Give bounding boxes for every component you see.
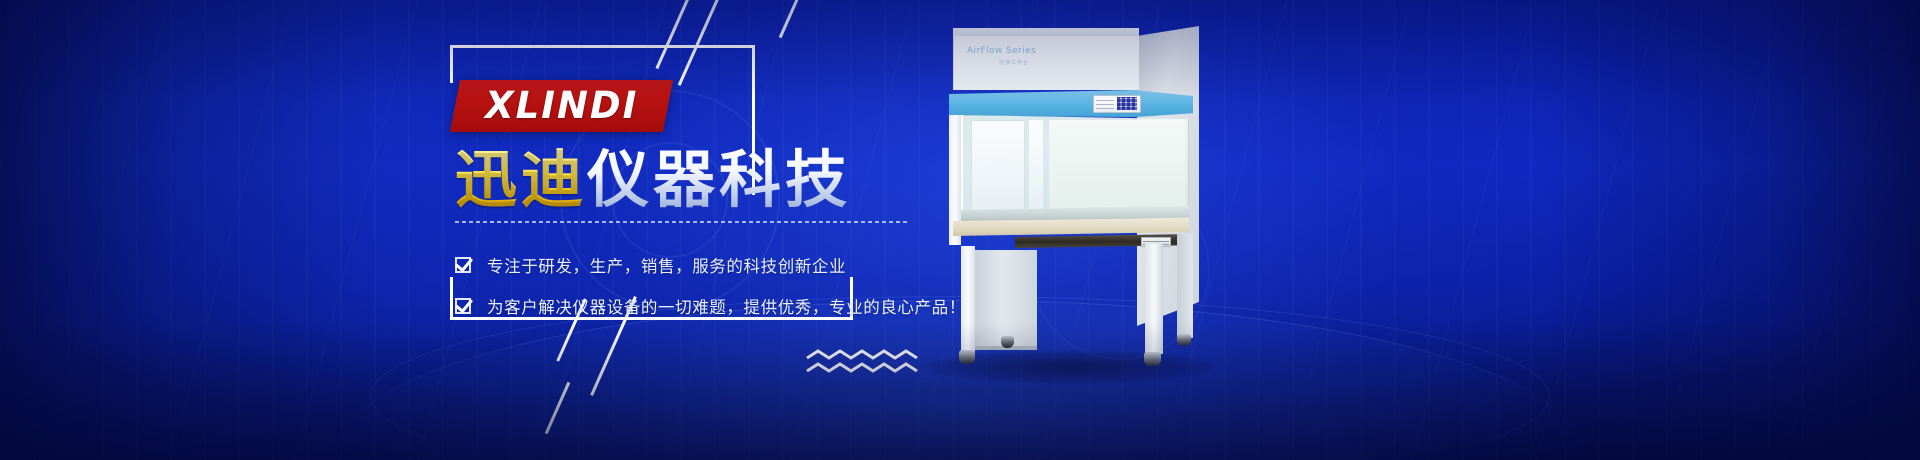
glass-reflection-1 <box>971 120 1025 216</box>
product-brand-text: AirFlow Series <box>967 46 1087 56</box>
list-item: 为客户解决仪器设备的一切难题，提供优秀，专业的良心产品！ <box>455 294 975 318</box>
cabinet-control-band <box>949 90 1193 117</box>
glass-reflection-2 <box>1029 120 1043 218</box>
title-dotted-divider <box>455 221 910 223</box>
bullet-label: 为客户解决仪器设备的一切难题，提供优秀，专业的良心产品！ <box>487 294 966 318</box>
promo-banner: XLINDI 迅迪仪器科技 专注于研发，生产，销售，服务的科技创新企业 为客户解… <box>0 0 1920 460</box>
list-item: 专注于研发，生产，销售，服务的科技创新企业 <box>455 253 975 277</box>
headline-gold-text: 迅迪 <box>455 143 587 216</box>
brand-logo-text: XLINDI <box>485 87 638 124</box>
diagonal-slash-top-1 <box>655 0 691 69</box>
bullet-list: 专注于研发，生产，销售，服务的科技创新企业 为客户解决仪器设备的一切难题，提供优… <box>455 253 975 318</box>
caster-wheel-front-right <box>1144 352 1161 366</box>
caster-wheel-back-left <box>1001 336 1014 348</box>
checkbox-check-icon <box>455 298 471 314</box>
caster-wheel-back-right <box>1177 334 1191 346</box>
frame-top-left-horizontal <box>450 45 755 48</box>
diagonal-slash-bottom-3 <box>545 382 571 434</box>
headline-silver-text: 仪器科技 <box>587 143 851 216</box>
diagonal-slash-top-2 <box>678 0 725 86</box>
cabinet-interior-wall <box>1049 120 1185 212</box>
diagonal-slash-top-3 <box>779 0 805 38</box>
cabinet-base-left-panel <box>961 246 975 352</box>
product-brand-label: AirFlow Series 洁净工作台 <box>967 46 1087 66</box>
cabinet-base-right-panel-far <box>1177 234 1193 338</box>
brand-logo-badge: XLINDI <box>450 80 673 132</box>
zigzag-wave-icon <box>805 348 925 380</box>
product-sub-text: 洁净工作台 <box>999 59 1087 66</box>
frame-top-left-vertical <box>450 45 453 83</box>
cabinet-base-right-panel <box>1145 244 1163 354</box>
control-panel-readout <box>1096 98 1114 109</box>
frame-bottom-left-vertical <box>450 277 453 320</box>
product-image: AirFlow Series 洁净工作台 <box>915 20 1225 390</box>
checkbox-check-icon <box>455 257 471 273</box>
page-title: 迅迪仪器科技 <box>455 148 975 212</box>
caster-wheel-front-left <box>959 350 975 364</box>
bullet-label: 专注于研发，生产，销售，服务的科技创新企业 <box>487 253 846 277</box>
cabinet-top-slab <box>953 28 1139 36</box>
copy-block: XLINDI 迅迪仪器科技 专注于研发，生产，销售，服务的科技创新企业 为客户解… <box>455 80 975 335</box>
glass-edge-highlight <box>961 115 963 223</box>
control-panel-buttons[interactable] <box>1117 97 1137 110</box>
cabinet-base-inner <box>975 250 1037 350</box>
